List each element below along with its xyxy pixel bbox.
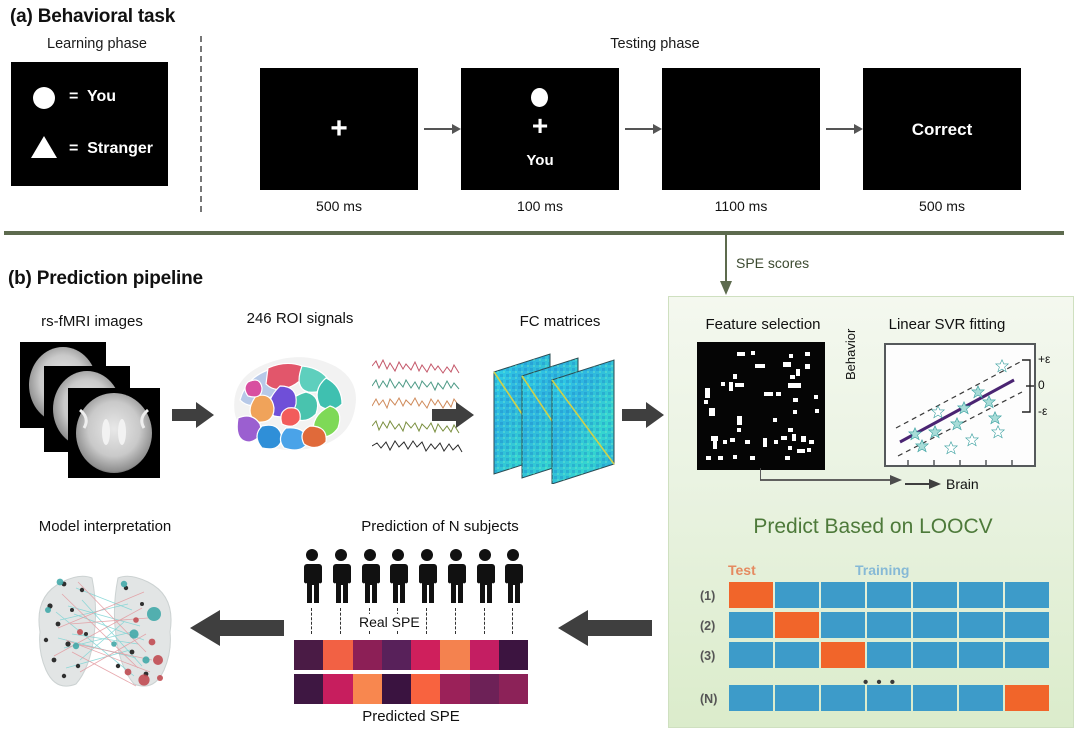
subject-icon — [445, 548, 467, 606]
subject-link-dash — [455, 608, 456, 634]
real-spe-cell — [411, 640, 440, 670]
stimulus-fixation-cross: + — [461, 112, 619, 140]
loocv-cell — [913, 642, 957, 668]
loocv-cell — [959, 582, 1003, 608]
subject-link-dash — [340, 608, 341, 634]
loocv-cell — [959, 642, 1003, 668]
loocv-cell — [1005, 582, 1049, 608]
feature-to-svr-connector — [760, 468, 910, 488]
duration-fixation: 500 ms — [260, 198, 418, 214]
testing-screen-feedback: Correct — [863, 68, 1021, 190]
loocv-cell — [913, 612, 957, 638]
loocv-cell — [867, 642, 911, 668]
predicted-spe-heatmap — [294, 674, 528, 704]
section-divider — [4, 231, 1064, 235]
step-label-fc-matrices: FC matrices — [480, 313, 640, 330]
interpretation-title: Model interpretation — [10, 518, 200, 535]
task-arrow-2-head — [653, 124, 662, 134]
loocv-ellipsis: • • • — [820, 674, 940, 691]
loocv-cell — [821, 642, 865, 668]
real-spe-cell — [499, 640, 528, 670]
predicted-spe-cell — [470, 674, 499, 704]
svr-x-axis-arrow — [905, 478, 945, 490]
task-arrow-3-head — [854, 124, 863, 134]
loocv-cell — [1005, 685, 1049, 711]
panel-b-title: (b) Prediction pipeline — [8, 268, 203, 290]
testing-screen-stimulus: + You — [461, 68, 619, 190]
loocv-row-label-2: (2) — [700, 619, 715, 633]
prediction-title: Prediction of N subjects — [290, 518, 590, 535]
loocv-cell — [775, 612, 819, 638]
loocv-cell — [775, 642, 819, 668]
subject-link-dash — [426, 608, 427, 634]
roi-signals-brain — [222, 340, 362, 470]
subject-link-dash — [311, 608, 312, 634]
svr-margin-zero: 0 — [1038, 378, 1045, 392]
learning-phase-screen: = You = Stranger — [11, 62, 168, 186]
loocv-row-label-3: (3) — [700, 649, 715, 663]
prediction-to-interpretation-arrow — [190, 608, 286, 648]
testing-screen-fixation: + — [260, 68, 418, 190]
loocv-cell — [775, 582, 819, 608]
real-spe-cell — [323, 640, 352, 670]
pipeline-arrow-1 — [172, 400, 216, 430]
subject-icon — [359, 548, 381, 606]
svr-margin-minus: -ε — [1038, 404, 1047, 418]
loocv-cell — [867, 612, 911, 638]
loocv-cell — [867, 582, 911, 608]
testing-screen-blank — [662, 68, 820, 190]
real-spe-cell — [294, 640, 323, 670]
subject-icon — [330, 548, 352, 606]
loocv-test-label: Test — [728, 562, 756, 578]
rs-fmri-images — [18, 340, 168, 480]
real-spe-label: Real SPE — [356, 614, 423, 630]
duration-stimulus: 100 ms — [461, 198, 619, 214]
loocv-cell — [729, 612, 773, 638]
loocv-cell — [1005, 642, 1049, 668]
real-spe-cell — [470, 640, 499, 670]
fixation-cross: + — [260, 68, 418, 190]
predicted-spe-cell — [353, 674, 382, 704]
predicted-spe-cell — [294, 674, 323, 704]
real-spe-cell — [382, 640, 411, 670]
pipeline-arrow-3 — [622, 400, 666, 430]
step-label-rs-fmri: rs-fMRI images — [12, 313, 172, 330]
circle-stimulus-icon — [33, 87, 55, 109]
subject-icon — [416, 548, 438, 606]
real-spe-cell — [440, 640, 469, 670]
loocv-row-label-n: (N) — [700, 692, 717, 706]
duration-feedback: 500 ms — [863, 198, 1021, 214]
loocv-cell — [821, 612, 865, 638]
task-arrow-2-line — [625, 128, 655, 130]
testing-phase-label: Testing phase — [560, 36, 750, 52]
svr-y-axis-label: Behavior — [843, 329, 858, 380]
task-arrow-1-line — [424, 128, 454, 130]
loocv-cell — [913, 582, 957, 608]
subject-link-dash — [512, 608, 513, 634]
stimulus-circle-icon — [531, 88, 548, 107]
feature-selection-label: Feature selection — [688, 316, 838, 333]
stimulus-word: You — [461, 152, 619, 169]
predicted-spe-cell — [499, 674, 528, 704]
subject-icon — [301, 548, 323, 606]
predicted-spe-label: Predicted SPE — [294, 708, 528, 725]
predicted-spe-cell — [323, 674, 352, 704]
loocv-grid: (1) (2) (3) (N) • • • — [700, 582, 1050, 712]
task-arrow-1-head — [452, 124, 461, 134]
feedback-text: Correct — [863, 120, 1021, 140]
duration-blank: 1100 ms — [662, 198, 820, 214]
learning-phase-label: Learning phase — [32, 36, 162, 52]
subject-icon — [502, 548, 524, 606]
subject-icon — [474, 548, 496, 606]
phase-divider — [200, 36, 202, 212]
spe-scores-label: SPE scores — [736, 255, 809, 271]
loocv-cell — [1005, 612, 1049, 638]
loocv-cell — [729, 642, 773, 668]
svr-margin-plus: +ε — [1038, 352, 1050, 366]
predicted-spe-cell — [411, 674, 440, 704]
learning-rule-1: = You — [69, 88, 116, 106]
loocv-cell — [729, 582, 773, 608]
loocv-cell — [775, 685, 819, 711]
svr-x-axis-label: Brain — [946, 476, 979, 492]
task-arrow-3-line — [826, 128, 856, 130]
subject-icon — [387, 548, 409, 606]
loocv-cell — [959, 612, 1003, 638]
loocv-cell — [821, 582, 865, 608]
loocv-cell — [959, 685, 1003, 711]
loocv-to-prediction-arrow — [558, 608, 654, 648]
subject-icons — [300, 548, 530, 608]
real-spe-cell — [353, 640, 382, 670]
subject-link-dash — [484, 608, 485, 634]
predicted-spe-cell — [382, 674, 411, 704]
loocv-row-label-1: (1) — [700, 589, 715, 603]
step-label-roi-signals: 246 ROI signals — [210, 310, 390, 327]
svr-label: Linear SVR fitting — [862, 316, 1032, 333]
loocv-cell — [729, 685, 773, 711]
pipeline-arrow-2 — [432, 400, 476, 430]
loocv-title: Predict Based on LOOCV — [688, 515, 1058, 539]
feature-selection-matrix — [697, 342, 825, 470]
learning-rule-2: = Stranger — [69, 140, 153, 158]
loocv-training-label: Training — [855, 562, 909, 578]
panel-a-title: (a) Behavioral task — [10, 6, 175, 28]
predicted-spe-cell — [440, 674, 469, 704]
real-spe-heatmap — [294, 640, 528, 670]
glass-brain-connectome — [20, 548, 190, 713]
triangle-stimulus-icon — [31, 136, 57, 158]
